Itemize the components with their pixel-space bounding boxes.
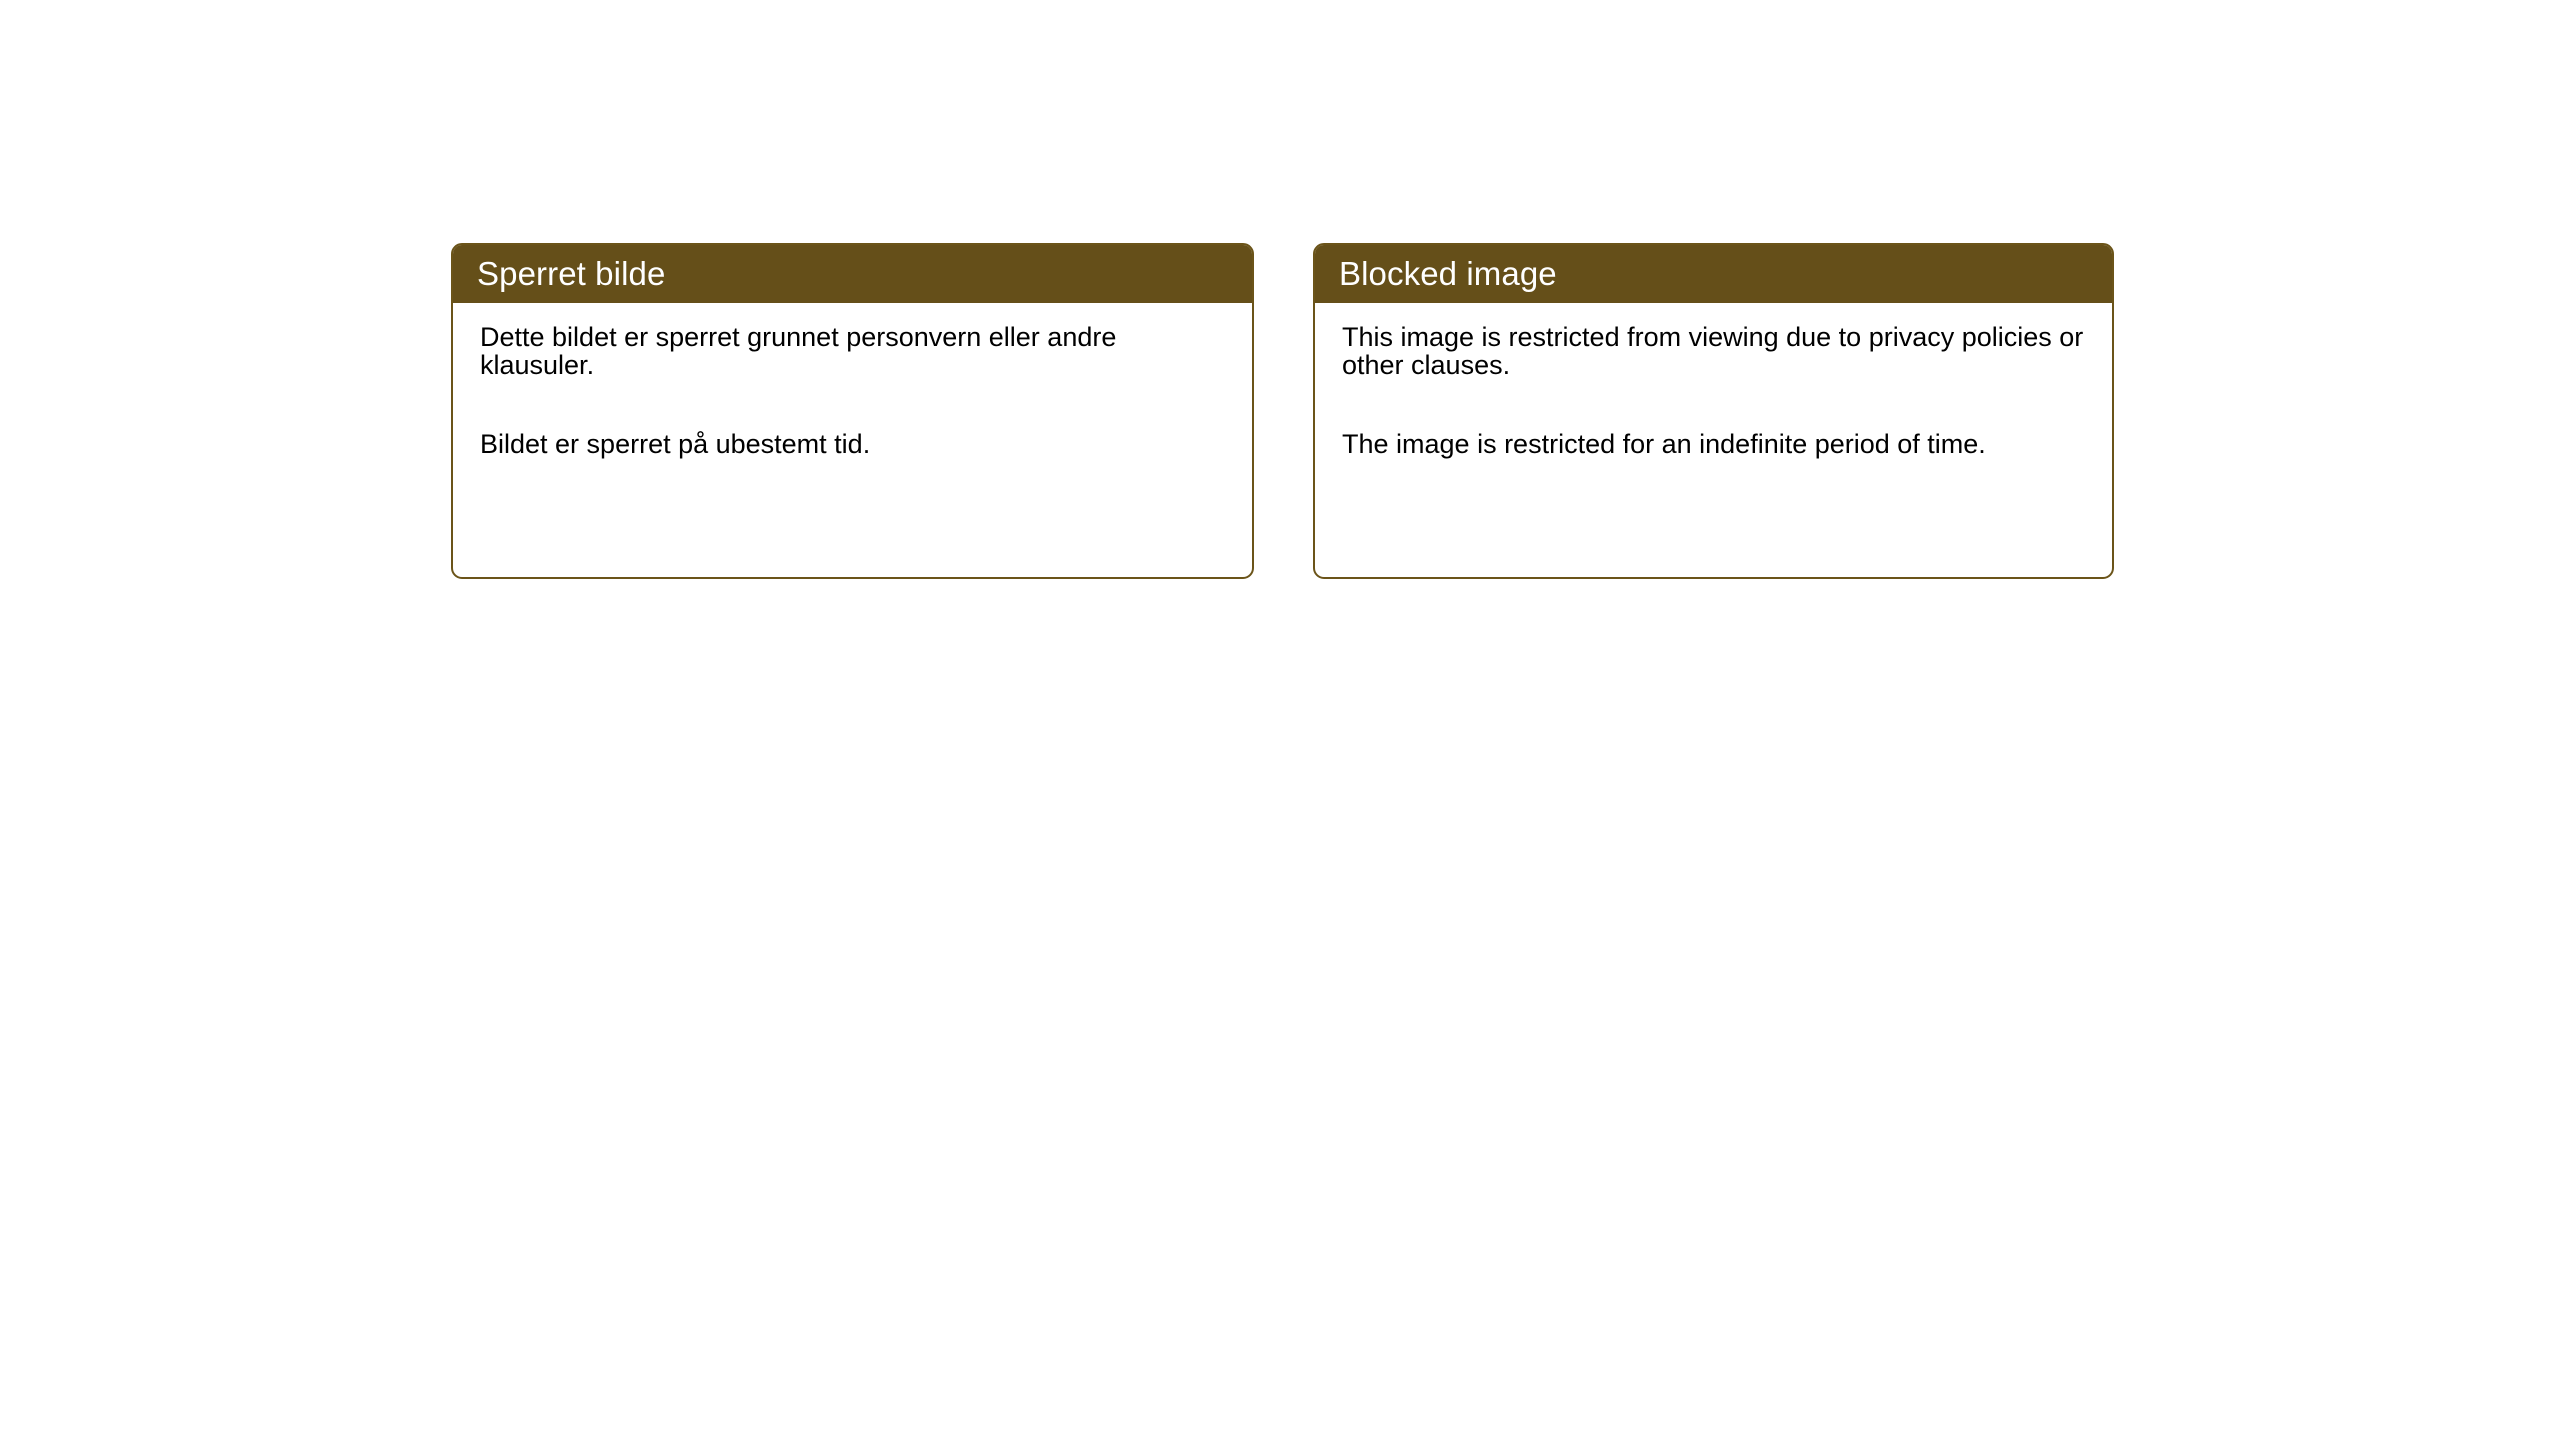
card-paragraph-secondary-english: The image is restricted for an indefinit… <box>1342 431 2086 459</box>
card-paragraph-primary-english: This image is restricted from viewing du… <box>1342 324 2086 379</box>
blocked-image-notice-card-norwegian: Sperret bilde Dette bildet er sperret gr… <box>451 243 1254 579</box>
card-header-norwegian: Sperret bilde <box>451 243 1254 303</box>
card-paragraph-primary-norwegian: Dette bildet er sperret grunnet personve… <box>480 324 1226 379</box>
blocked-image-notice-card-english: Blocked image This image is restricted f… <box>1313 243 2114 579</box>
page-canvas: Sperret bilde Dette bildet er sperret gr… <box>0 0 2560 1440</box>
card-body-norwegian: Dette bildet er sperret grunnet personve… <box>453 303 1252 459</box>
card-title-norwegian: Sperret bilde <box>477 257 665 290</box>
card-header-english: Blocked image <box>1313 243 2114 303</box>
card-body-english: This image is restricted from viewing du… <box>1315 303 2112 459</box>
card-paragraph-secondary-norwegian: Bildet er sperret på ubestemt tid. <box>480 431 1226 459</box>
card-title-english: Blocked image <box>1339 257 1557 290</box>
